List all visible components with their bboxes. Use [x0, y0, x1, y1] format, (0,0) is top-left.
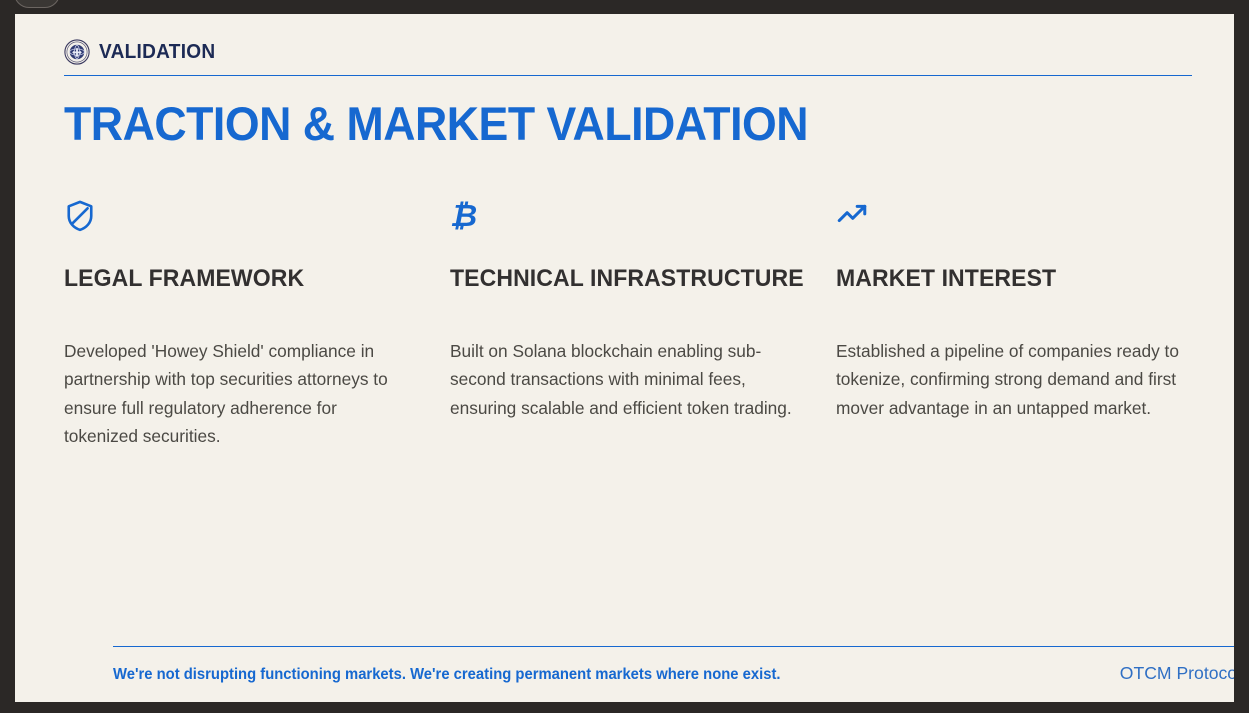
pill-control[interactable] [14, 0, 60, 8]
trending-up-icon [836, 199, 1222, 233]
footer-tagline: We're not disrupting functioning markets… [113, 666, 781, 684]
bitcoin-glyph: ₿ [450, 201, 477, 232]
app-background: VALIDATION TRACTION & MARKET VALIDATION … [0, 0, 1249, 713]
feature-column-market-interest: MARKET INTEREST Established a pipeline o… [836, 199, 1222, 451]
feature-column-heading: TECHNICAL INFRASTRUCTURE [450, 265, 813, 293]
feature-column-body: Built on Solana blockchain enabling sub-… [450, 337, 802, 422]
feature-column-heading: LEGAL FRAMEWORK [64, 265, 427, 293]
footer-brand-label: OTCM Protocol [1120, 663, 1234, 684]
shield-off-icon [64, 199, 450, 233]
feature-column-legal-framework: LEGAL FRAMEWORK Developed 'Howey Shield'… [64, 199, 450, 451]
slide-footer: We're not disrupting functioning markets… [113, 646, 1234, 693]
slide-kicker-label: VALIDATION [99, 40, 215, 64]
bitcoin-icon: ₿ [450, 199, 836, 233]
feature-column-body: Established a pipeline of companies read… [836, 337, 1188, 422]
otcm-seal-logo [64, 39, 90, 65]
slide-kicker-row: VALIDATION [64, 37, 1192, 67]
feature-column-body: Developed 'Howey Shield' compliance in p… [64, 337, 394, 451]
slide-content: VALIDATION TRACTION & MARKET VALIDATION … [64, 23, 1192, 693]
feature-columns: LEGAL FRAMEWORK Developed 'Howey Shield'… [64, 199, 1192, 451]
kicker-divider [64, 75, 1192, 76]
footer-row: We're not disrupting functioning markets… [113, 647, 1234, 693]
presentation-slide: VALIDATION TRACTION & MARKET VALIDATION … [15, 14, 1234, 702]
feature-column-technical-infrastructure: ₿ TECHNICAL INFRASTRUCTURE Built on Sola… [450, 199, 836, 451]
page-title: TRACTION & MARKET VALIDATION [64, 100, 1136, 147]
feature-column-heading: MARKET INTEREST [836, 265, 1199, 293]
